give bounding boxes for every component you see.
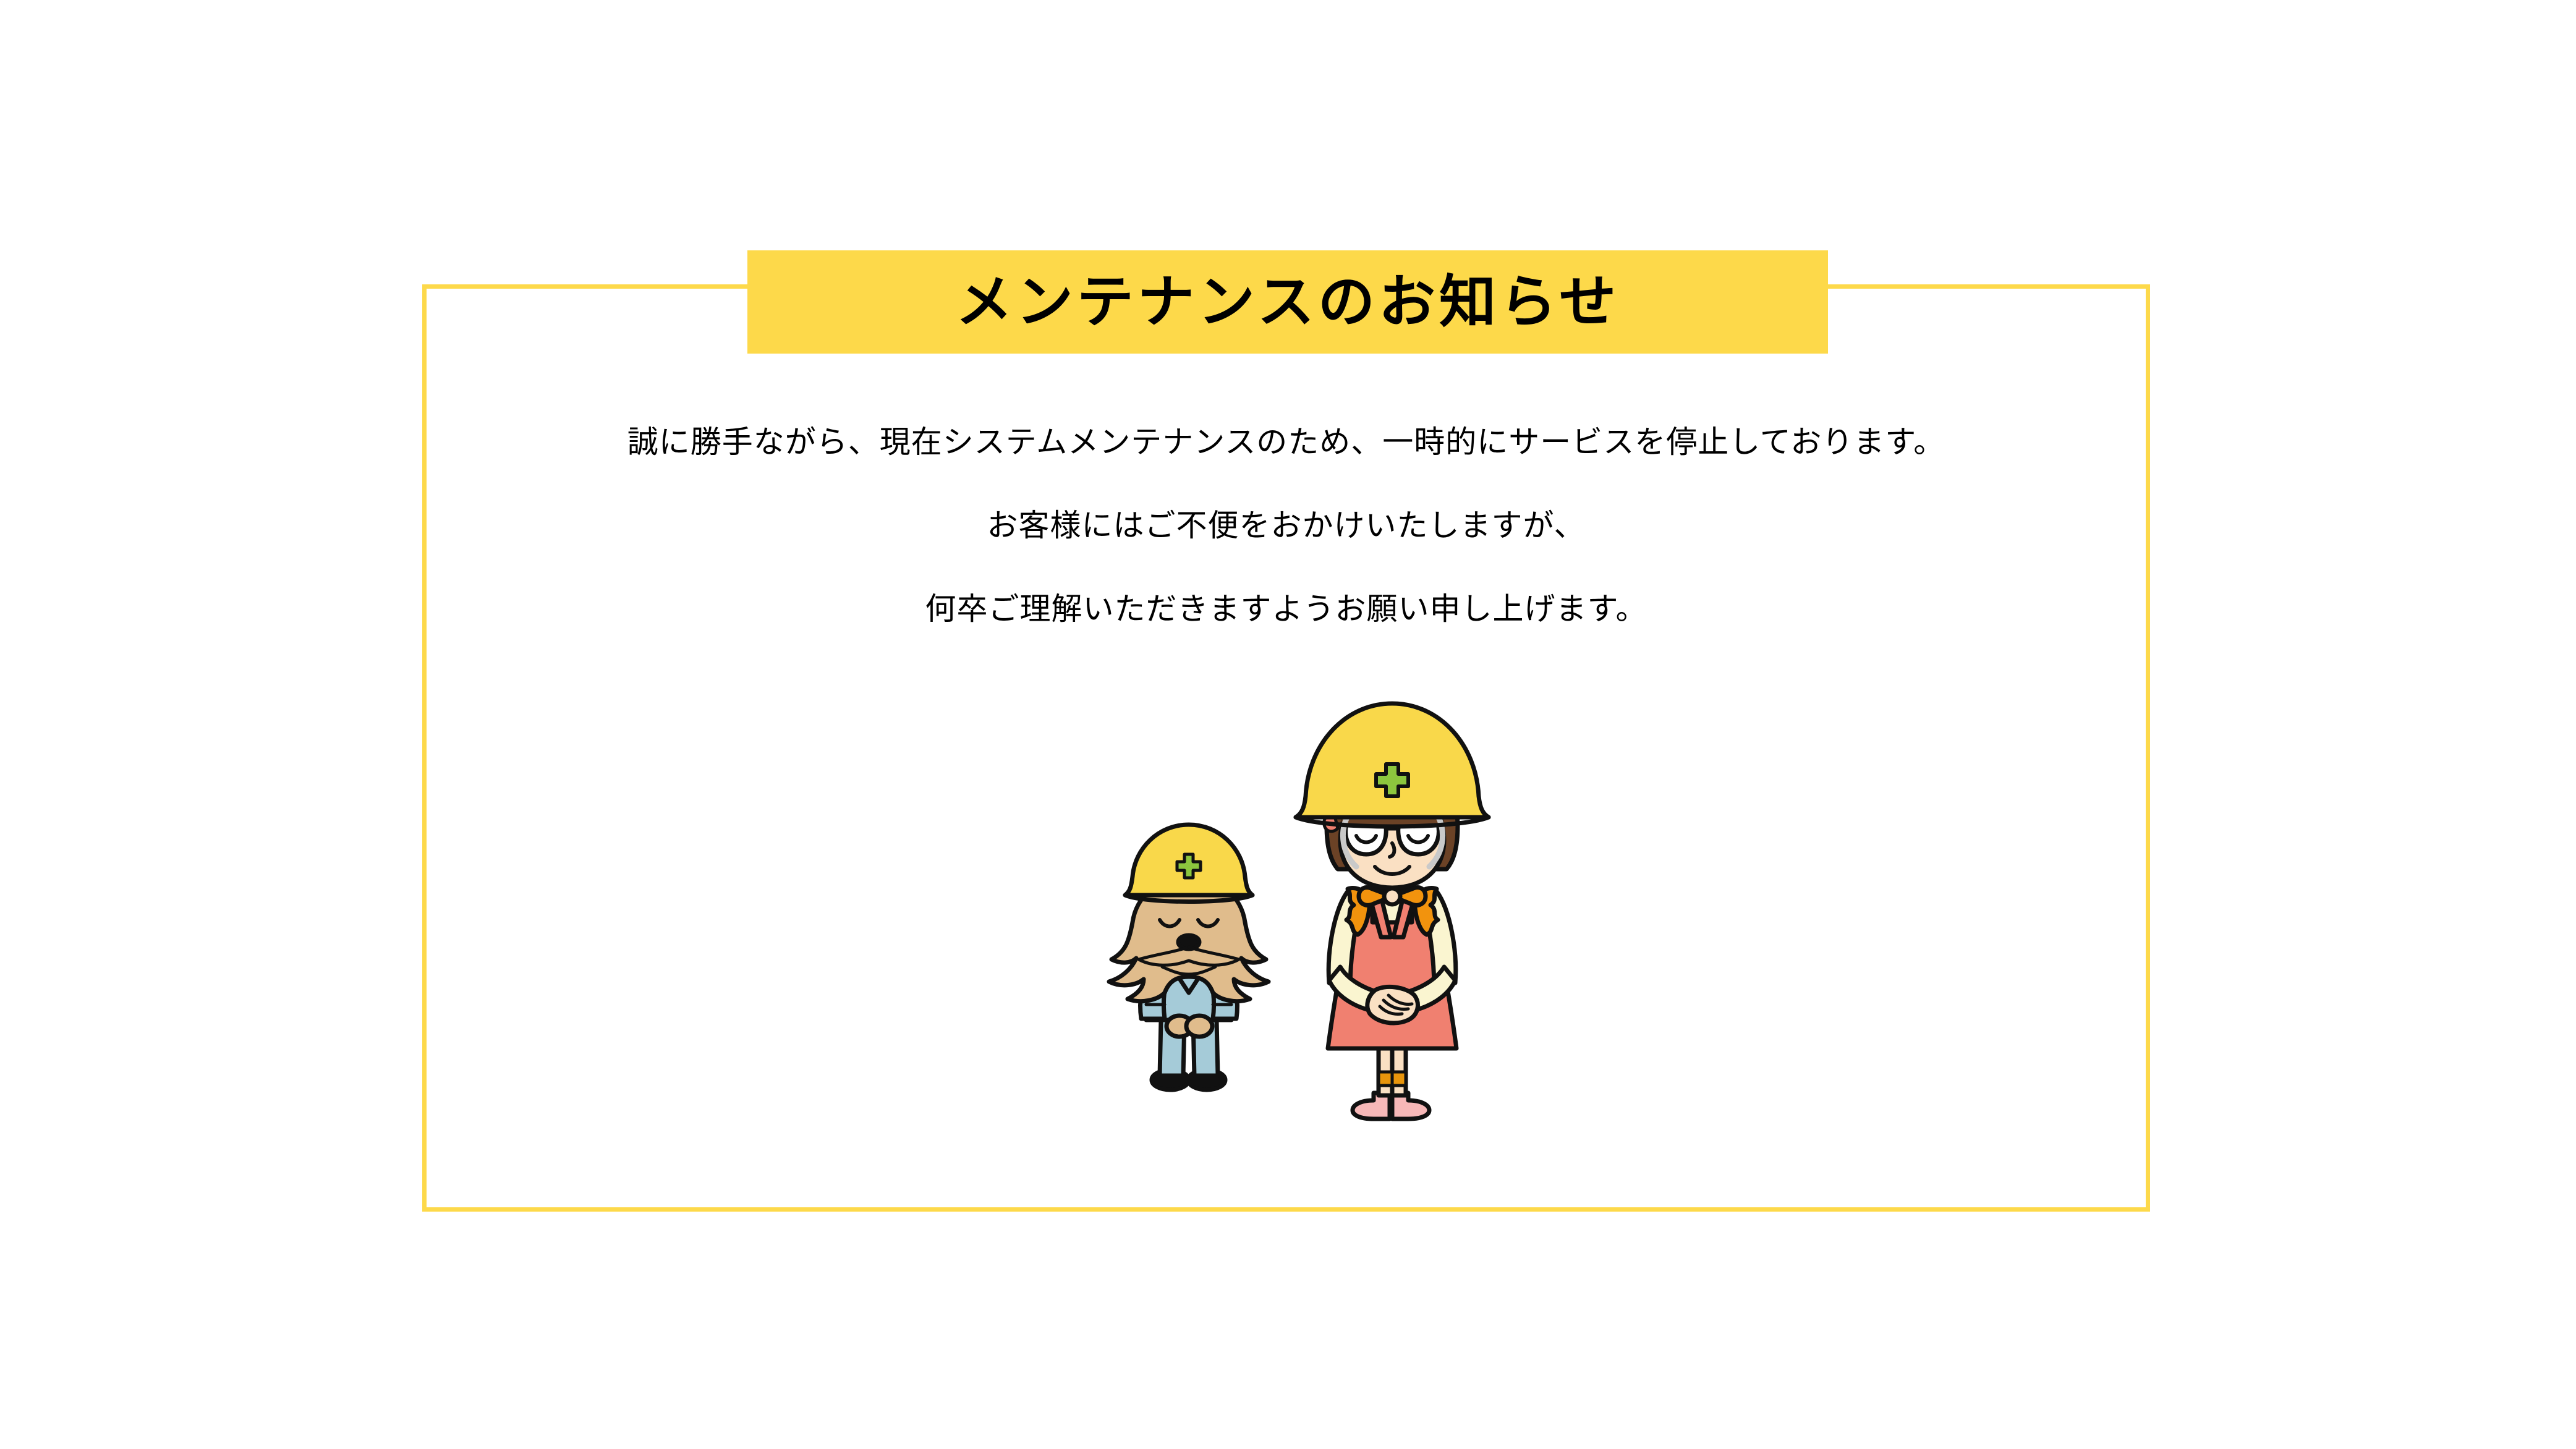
illustration-svg — [1100, 692, 1533, 1125]
page-title: メンテナンスのお知らせ — [956, 274, 1620, 331]
notice-body: 誠に勝手ながら、現在システムメンテナンスのため、一時的にサービスを停止しておりま… — [422, 427, 2150, 624]
woman-worker-figure — [1296, 703, 1489, 1119]
notice-body-line-3: 何卒ご理解いただきますようお願い申し上げます。 — [422, 593, 2150, 624]
title-banner: メンテナンスのお知らせ — [747, 250, 1828, 354]
two-bowing-workers-illustration — [1100, 692, 1533, 1125]
notice-body-line-1: 誠に勝手ながら、現在システムメンテナンスのため、一時的にサービスを停止しておりま… — [422, 427, 2150, 457]
notice-body-line-2: お客様にはご不便をおかけいたしますが、 — [422, 510, 2150, 541]
dog-worker-figure — [1109, 825, 1269, 1090]
